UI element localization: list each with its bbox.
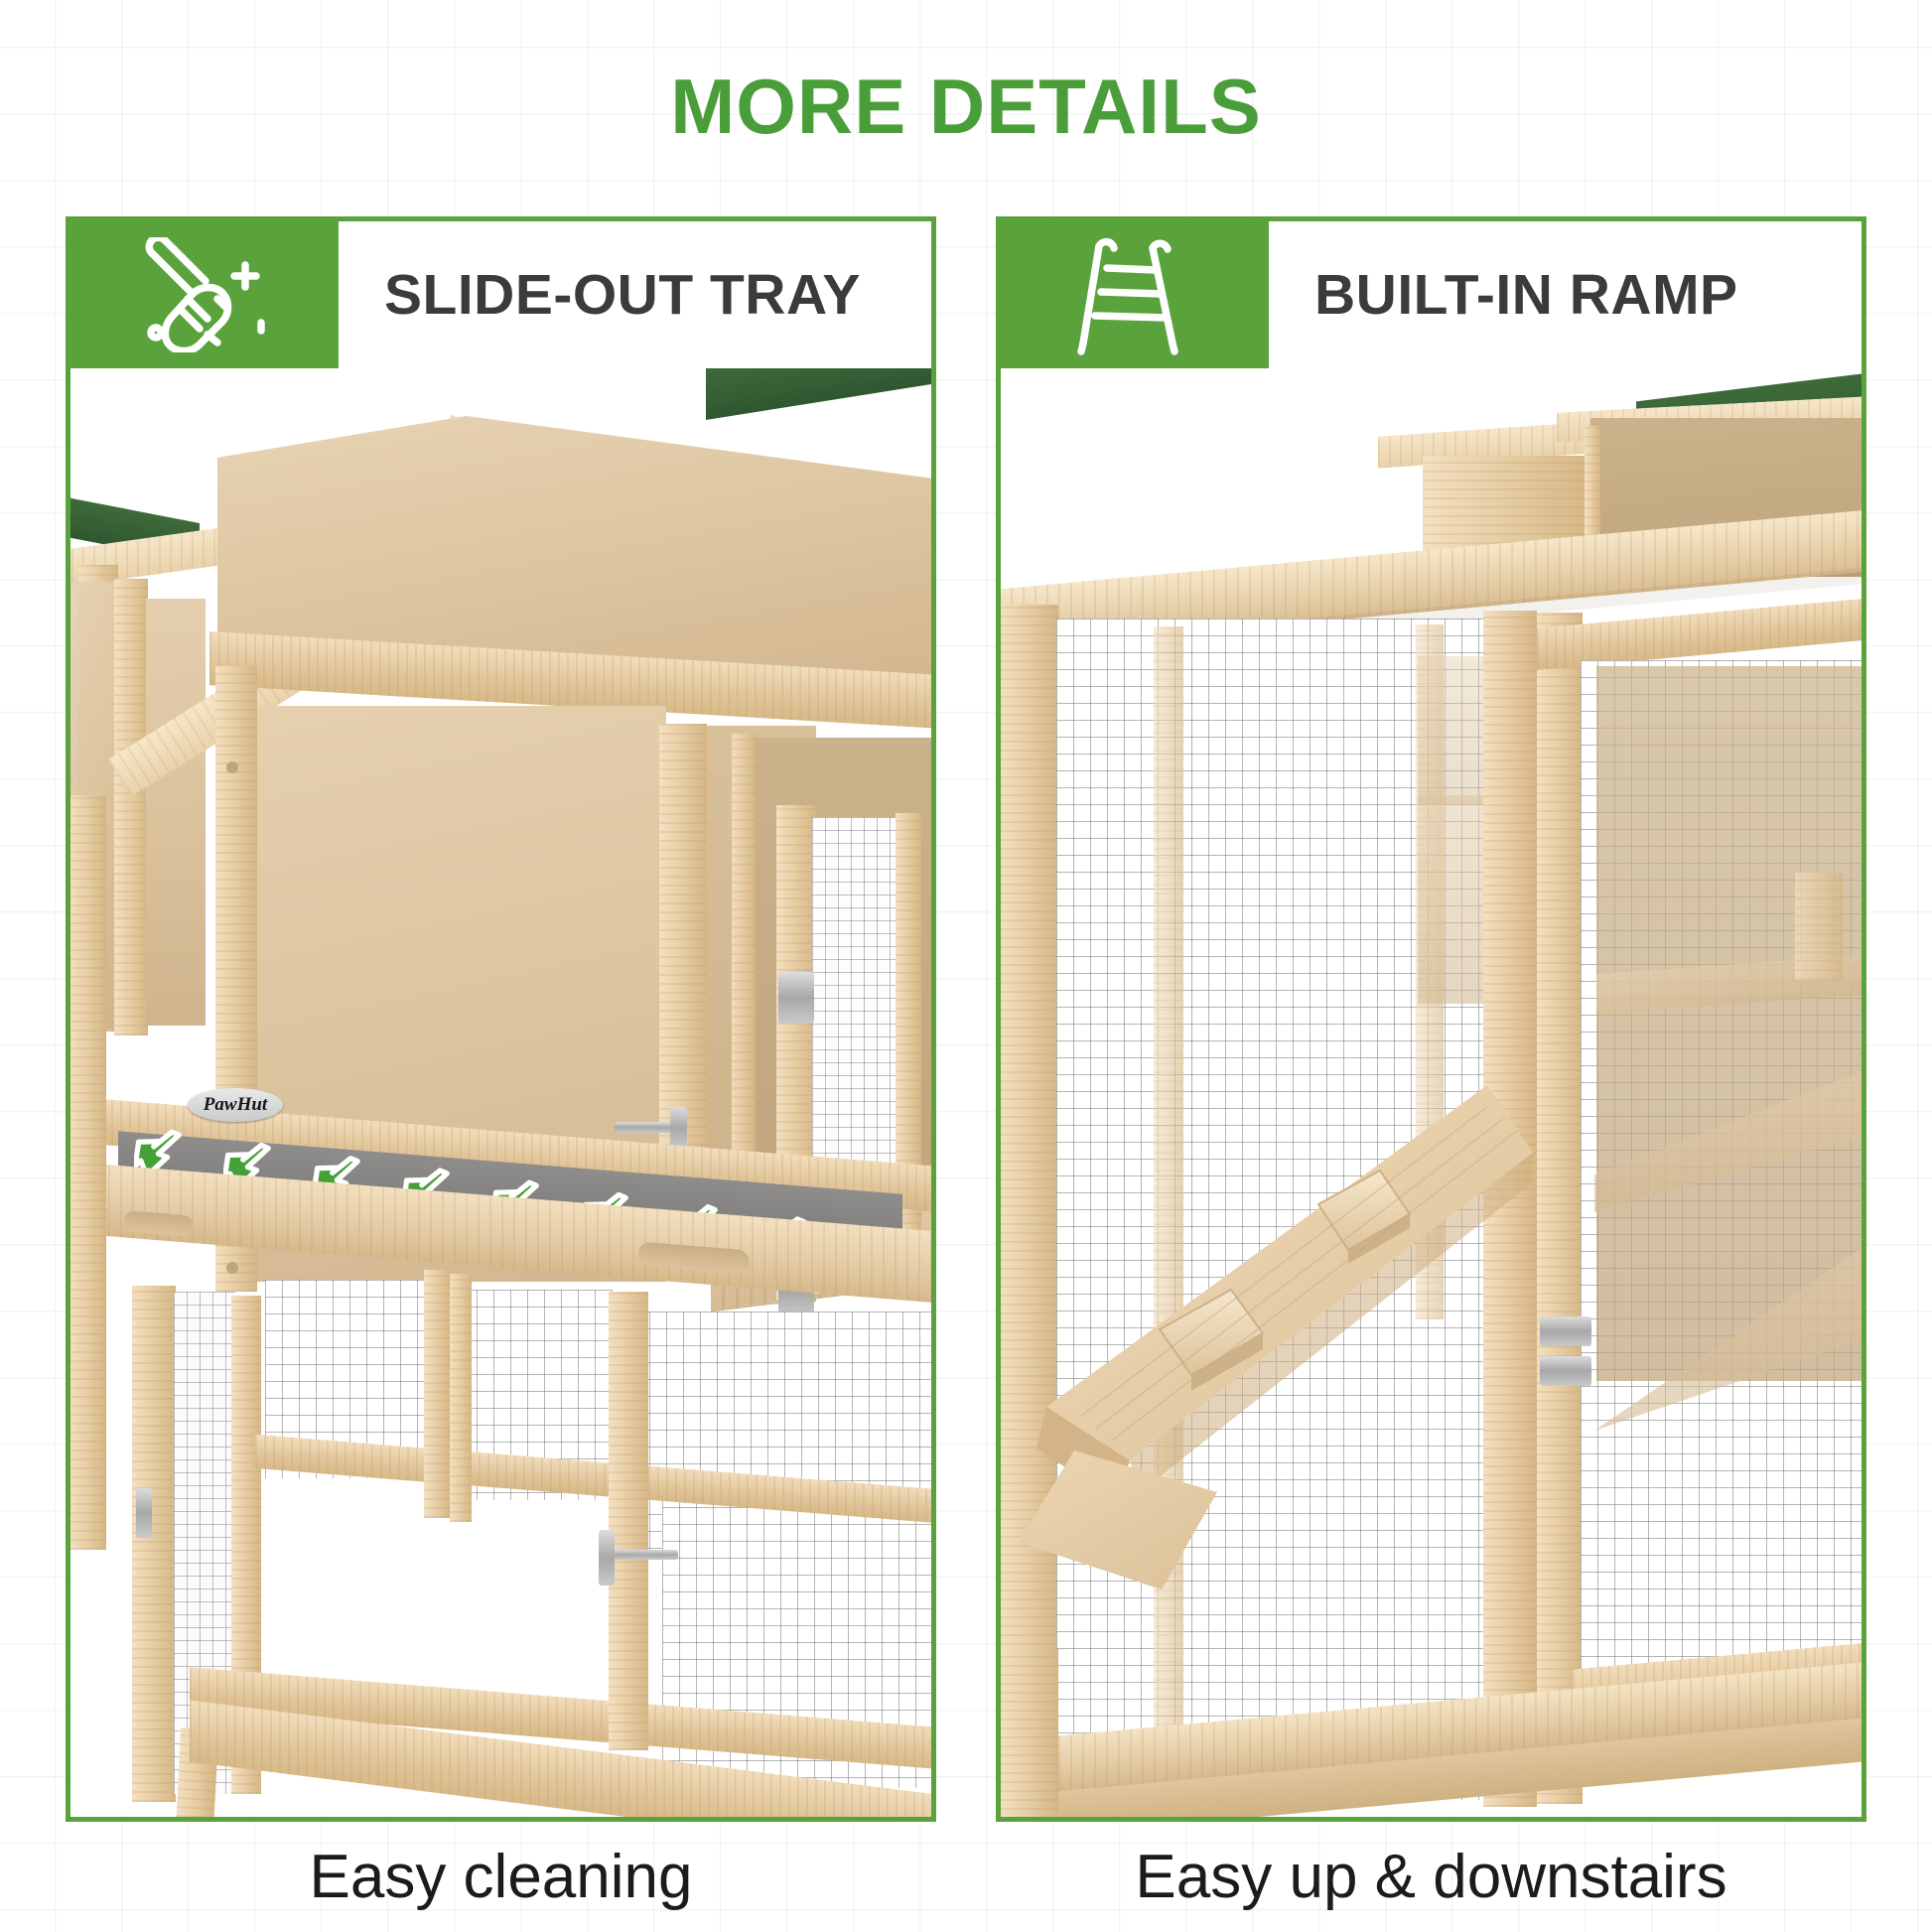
run-door-latch-plate[interactable] (599, 1530, 615, 1586)
door-hinge-lower-right (1540, 1356, 1591, 1386)
feature-panel-slide-out-tray: PawHut (66, 216, 936, 1822)
lower-door-hinge (136, 1488, 152, 1538)
run-front-left-post-lower (1001, 1649, 1058, 1817)
left-side-door-stile (114, 579, 148, 1035)
run-post-b (450, 1274, 472, 1522)
run-post-a (424, 1270, 450, 1518)
badge-built-in-ramp (1001, 221, 1269, 368)
run-door-stile-left[interactable] (1537, 613, 1583, 1804)
screw-top (226, 761, 238, 773)
interior-block-right (1795, 873, 1843, 980)
feature-panel-built-in-ramp: BUILT-IN RAMP (996, 216, 1866, 1822)
product-photo-built-in-ramp (1001, 368, 1862, 1817)
left-side-door-panel (146, 599, 206, 1026)
panel-title-slide-out-tray: SLIDE-OUT TRAY (339, 221, 931, 368)
screw-bottom (226, 1262, 238, 1274)
roof-shingle-right (706, 368, 931, 420)
door-hinge-upper (778, 972, 814, 1024)
door-latch-plate[interactable] (670, 1107, 687, 1149)
broom-sparkle-icon (130, 237, 279, 352)
interior-shelf-rear-2 (1418, 656, 1489, 805)
caption-easy-up-downstairs: Easy up & downstairs (996, 1842, 1866, 1912)
run-left-post (70, 795, 106, 1550)
lower-door-stile-left[interactable] (132, 1286, 176, 1802)
badge-slide-out-tray (70, 221, 339, 368)
gable-face (217, 416, 931, 676)
run-door-latch[interactable] (607, 1550, 678, 1560)
ladder-icon (1075, 232, 1194, 357)
door-hinge-upper-right (1540, 1316, 1591, 1346)
interior-shelf-rear (1418, 795, 1483, 1004)
panel-header-built-in-ramp: BUILT-IN RAMP (1001, 221, 1862, 368)
run-post-c (609, 1292, 648, 1750)
caption-easy-cleaning: Easy cleaning (66, 1842, 936, 1912)
product-photo-slide-out-tray: PawHut (70, 368, 931, 1817)
interior-back-wall-right (1596, 666, 1862, 1381)
panel-header-slide-out-tray: SLIDE-OUT TRAY (70, 221, 931, 368)
page-title: MORE DETAILS (0, 62, 1932, 152)
brand-badge-label: PawHut (204, 1094, 267, 1116)
brand-badge-pawhut: PawHut (188, 1088, 283, 1122)
panel-title-built-in-ramp: BUILT-IN RAMP (1269, 221, 1862, 368)
